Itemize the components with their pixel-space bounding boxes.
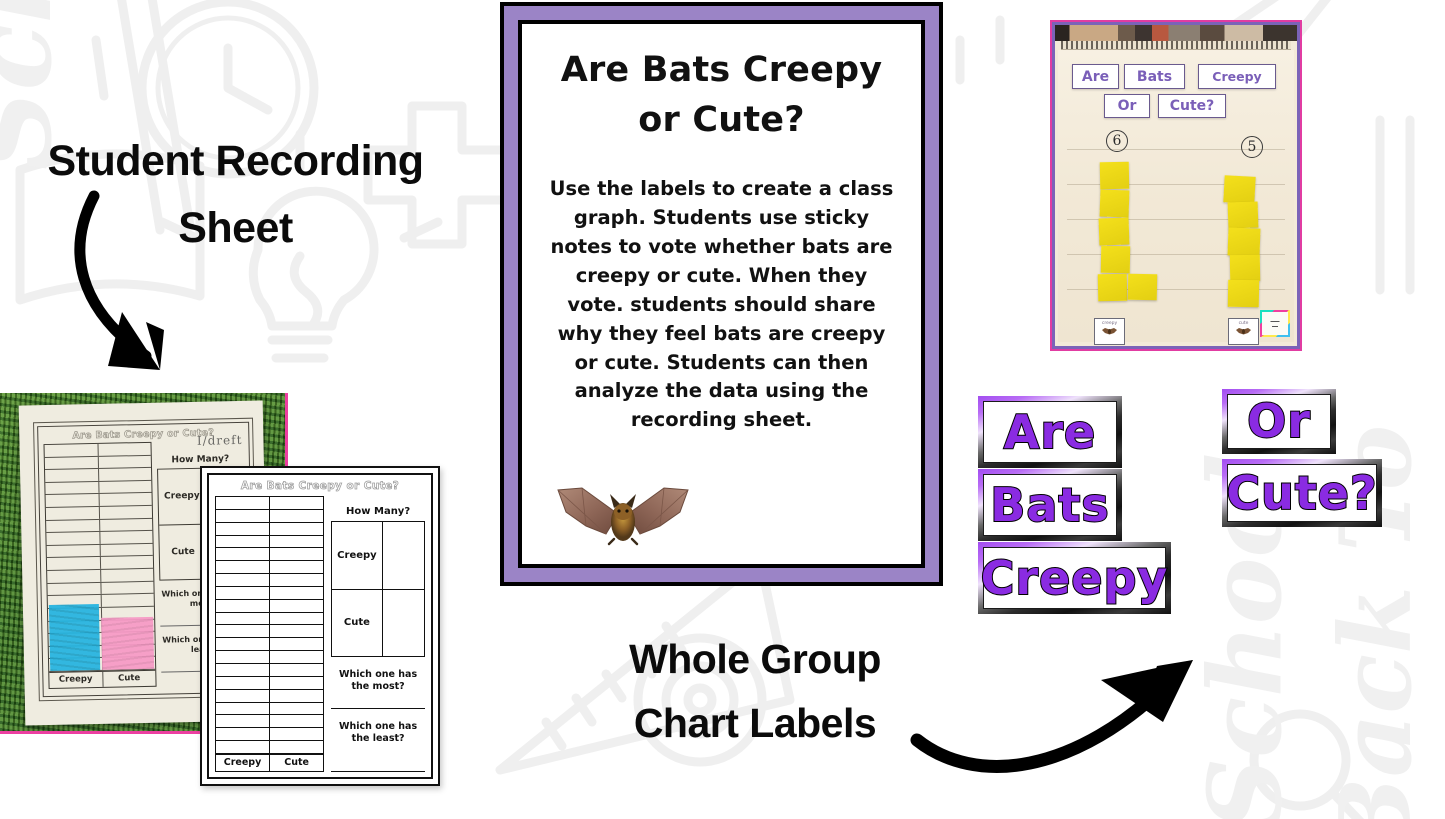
worksheet-photo-col-cute: Cute [103, 671, 156, 687]
chart-count-cute: 5 [1241, 136, 1263, 158]
curved-arrow-up-right-icon [905, 638, 1215, 778]
worksheet-photo-handwriting: I/dreft [197, 433, 243, 448]
annotation-right-line1: Whole Group [600, 628, 910, 692]
photo-classroom-anchor-chart: Are Bats Creepy Or Cute? 6 5 [1050, 20, 1302, 351]
recording-sheet-hm-cute: Cute [332, 590, 382, 657]
chart-label-text-bats: Bats [990, 481, 1109, 529]
cute-colored-bar [101, 617, 154, 670]
logo-line: ▬▬ [1272, 324, 1278, 329]
worksheet-photo-how-many: How Many? [157, 454, 244, 466]
creepy-colored-bar [49, 604, 100, 671]
annotation-right-line2: Chart Labels [600, 692, 910, 756]
recording-sheet-title: Are Bats Creepy or Cute? [215, 480, 425, 492]
worksheet-photo-col-creepy: Creepy [49, 672, 103, 688]
chart-bottom-card-cute: cute [1228, 318, 1259, 345]
chart-label-creepy: Creepy [1198, 64, 1276, 89]
annotation-whole-group-chart-labels: Whole Group Chart Labels [600, 628, 910, 755]
recording-sheet-a-least[interactable] [331, 756, 425, 772]
student-recording-sheet: Are Bats Creepy or Cute? [200, 466, 440, 786]
seller-logo-badge: ▬▬▬ ▬▬ [1260, 310, 1290, 337]
chart-label-card-or: Or [1222, 389, 1336, 454]
mini-card-label: cute [1239, 321, 1249, 326]
mini-bat-icon [1101, 327, 1118, 336]
sticky-note [1228, 201, 1259, 228]
sticky-note [1228, 280, 1259, 308]
chart-label-text-are: Are [1004, 408, 1096, 456]
sticky-note [1098, 274, 1127, 302]
sticky-note [1100, 190, 1130, 218]
recording-sheet-col-cute: Cute [270, 755, 323, 771]
sticky-note [1099, 217, 1130, 245]
card-body-text: Use the labels to create a class graph. … [540, 175, 903, 435]
card-inner-border: Are Bats Creepy or Cute? Use the labels … [518, 20, 925, 568]
card-title: Are Bats Creepy or Cute? [540, 46, 903, 145]
recording-sheet-a-most[interactable] [331, 693, 425, 709]
card-content: Are Bats Creepy or Cute? Use the labels … [522, 24, 921, 564]
recording-sheet-how-many-box: Creepy Cute [331, 521, 425, 657]
chart-label-bats: Bats [1124, 64, 1185, 89]
slide-canvas: School Back To School Student Recording … [0, 0, 1445, 819]
mini-bat-icon [1235, 327, 1252, 336]
chart-count-creepy: 6 [1106, 130, 1128, 152]
chart-label-card-bats: Bats [978, 469, 1122, 541]
chart-label-are: Are [1072, 64, 1119, 89]
recording-sheet-inner: Are Bats Creepy or Cute? [207, 473, 433, 779]
bat-illustration-icon [552, 468, 692, 558]
chart-label-card-creepy: Creepy [978, 542, 1171, 614]
chart-paper: Are Bats Creepy Or Cute? 6 5 [1058, 50, 1294, 342]
instruction-card: Are Bats Creepy or Cute? Use the labels … [500, 2, 943, 586]
recording-sheet-how-many: How Many? [331, 506, 425, 517]
chart-label-text-cute: Cute? [1226, 469, 1377, 517]
classroom-background-strip [1055, 25, 1297, 41]
recording-sheet-tally-grid: Creepy Cute [215, 496, 324, 772]
chart-label-card-cute: Cute? [1222, 459, 1382, 527]
annotation-left-line2: Sheet [8, 195, 463, 262]
recording-sheet-q-least: Which one has the least? [331, 721, 425, 745]
chart-label-cute: Cute? [1158, 94, 1226, 118]
sticky-note [1128, 274, 1157, 301]
chart-label-or: Or [1104, 94, 1150, 118]
recording-sheet-col-creepy: Creepy [216, 755, 270, 771]
chart-label-text-creepy: Creepy [981, 554, 1169, 602]
worksheet-photo-tally-grid: Creepy Cute [43, 442, 156, 689]
card-purple-frame: Are Bats Creepy or Cute? Use the labels … [504, 6, 939, 582]
sticky-note [1101, 246, 1130, 274]
recording-sheet-hm-creepy: Creepy [332, 522, 382, 589]
sticky-note [1228, 227, 1261, 256]
anchor-chart-photo-inner: Are Bats Creepy Or Cute? 6 5 [1055, 25, 1297, 346]
recording-sheet-q-most: Which one has the most? [331, 669, 425, 693]
annotation-student-recording-sheet: Student Recording Sheet [8, 128, 463, 261]
annotation-left-line1: Student Recording [8, 128, 463, 195]
sticky-note [1230, 255, 1260, 282]
mini-card-label: creepy [1102, 321, 1117, 326]
sticky-note [1223, 175, 1255, 204]
chart-bottom-card-creepy: creepy [1094, 318, 1125, 345]
chart-label-text-or: Or [1247, 397, 1311, 445]
chart-label-card-are: Are [978, 396, 1122, 468]
chart-paper-spiral-binding [1061, 41, 1291, 50]
sticky-note [1100, 162, 1129, 190]
